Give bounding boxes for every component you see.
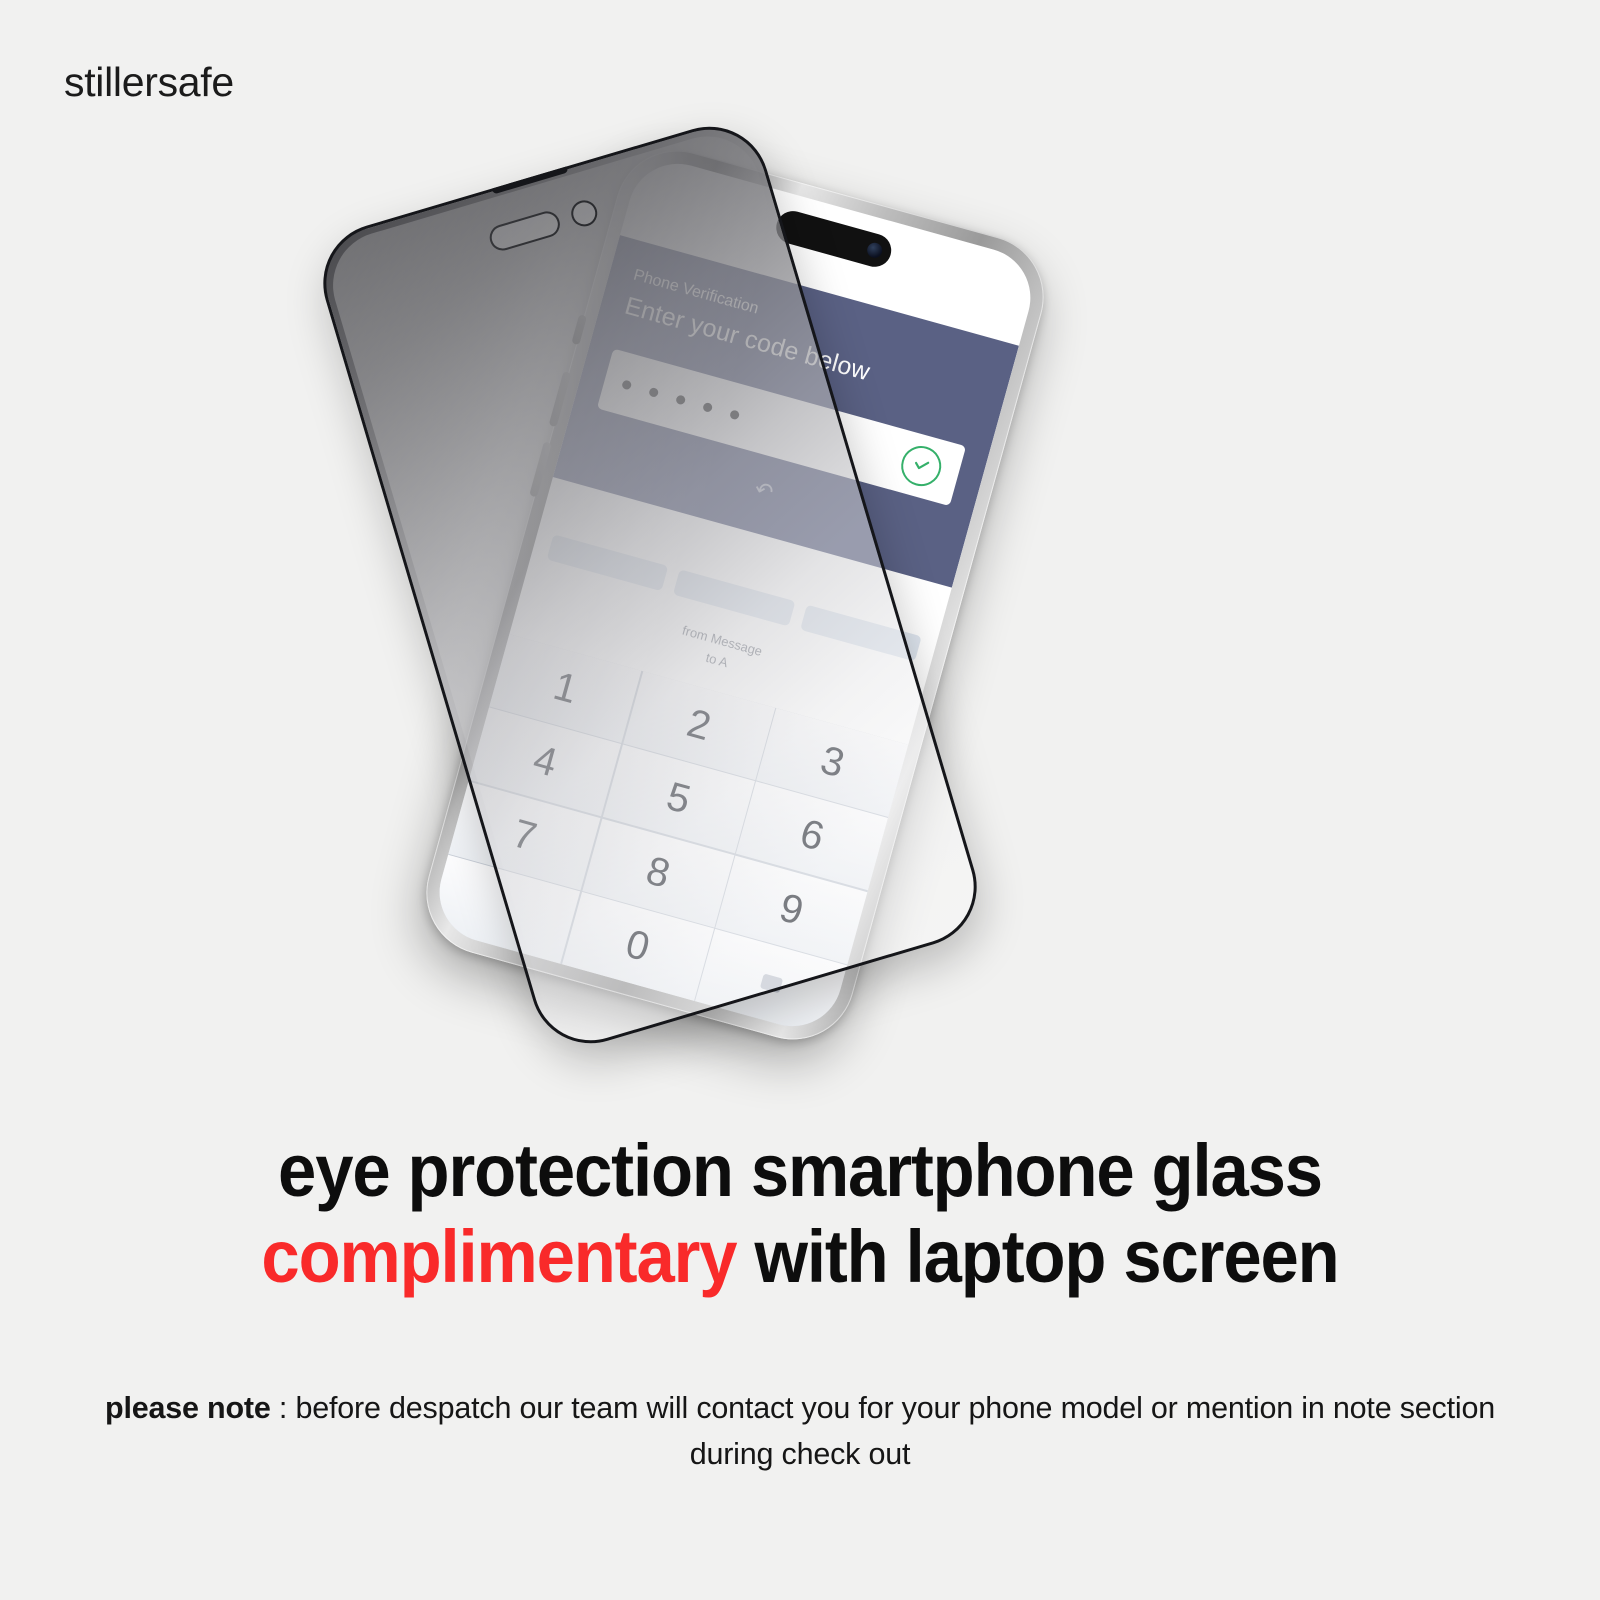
headline-accent-word: complimentary xyxy=(261,1215,736,1298)
island-cutouts xyxy=(487,197,601,253)
camera-pill-cutout-icon xyxy=(487,208,563,253)
product-hero: Phone Verification Enter your code below… xyxy=(0,150,1600,1050)
note-separator: : xyxy=(271,1391,296,1425)
page-title: eye protection smartphone glass complime… xyxy=(56,1128,1544,1300)
camera-hole-cutout-icon xyxy=(568,197,600,229)
front-camera-icon xyxy=(865,241,883,259)
note-label: please note xyxy=(105,1391,271,1425)
earpiece-cutout-icon xyxy=(492,166,568,194)
brand-logo: stillersafe xyxy=(64,62,234,103)
note-body: before despatch our team will contact yo… xyxy=(295,1391,1495,1471)
shield-check-icon xyxy=(897,441,946,490)
disclaimer-note: please note : before despatch our team w… xyxy=(0,1386,1600,1478)
headline-line-2: complimentary with laptop screen xyxy=(56,1214,1544,1300)
headline-line-2-rest: with laptop screen xyxy=(736,1215,1338,1298)
headline-line-1: eye protection smartphone glass xyxy=(56,1128,1544,1214)
